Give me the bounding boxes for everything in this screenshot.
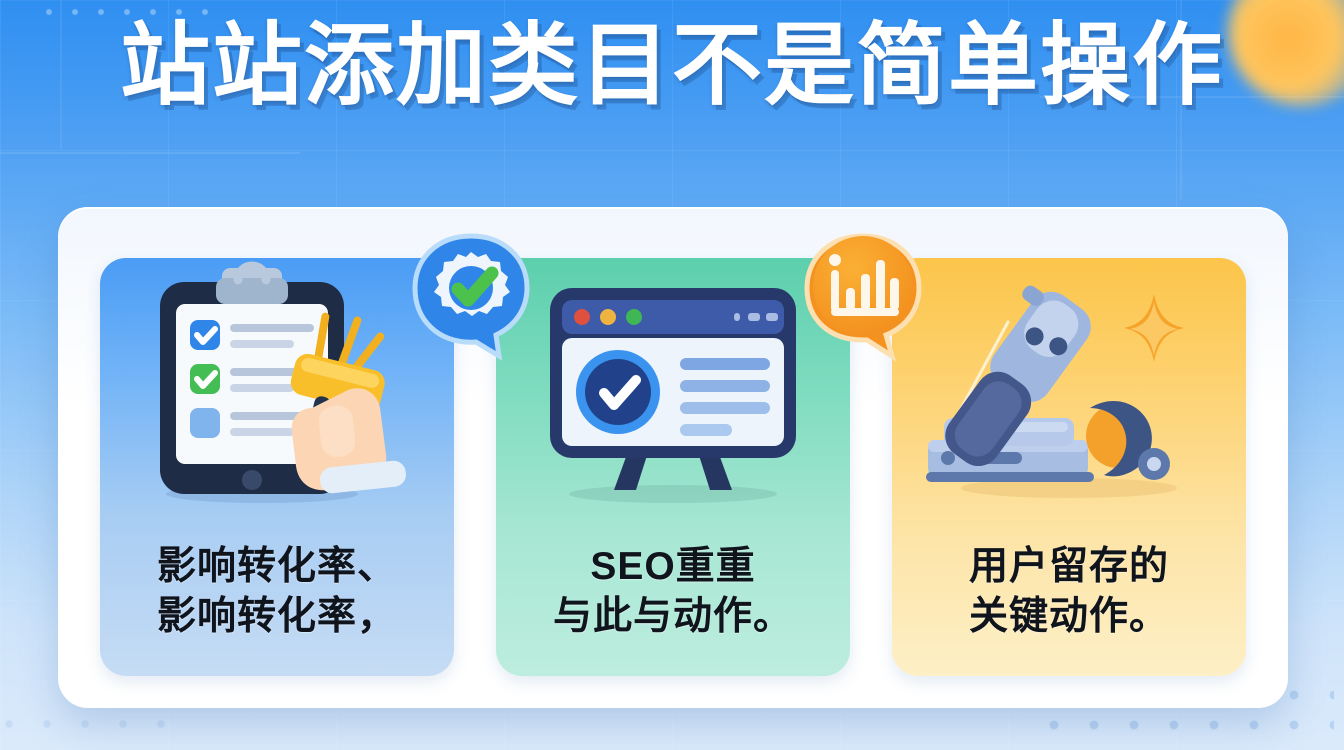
badge-bar-chart <box>800 232 930 362</box>
clipboard-checklist-hand-icon <box>100 258 454 508</box>
caption-line: 用户留存的 <box>892 542 1246 592</box>
caption-line: 影响转化率、 <box>100 542 454 592</box>
infographic-canvas: 站站添加类目不是简单操作 <box>0 0 1344 750</box>
page-title: 站站添加类目不是简单操作 <box>0 18 1344 114</box>
dot-grid-bottom-left <box>0 710 180 740</box>
card-caption: SEO重重 与此与动作。 <box>496 542 850 642</box>
caption-line: SEO重重 <box>496 542 850 592</box>
caption-line: 影响转化率， <box>100 592 454 642</box>
bar-chart-bubble-icon <box>800 232 930 362</box>
card-retention[interactable]: 用户留存的 关键动作。 <box>892 258 1246 676</box>
card-conversion[interactable]: 影响转化率、 影响转化率， <box>100 258 454 676</box>
caption-line: 关键动作。 <box>892 592 1246 642</box>
badge-gear-check <box>406 232 536 362</box>
card-caption: 用户留存的 关键动作。 <box>892 542 1246 642</box>
card-row: 影响转化率、 影响转化率， <box>100 258 1246 676</box>
card-caption: 影响转化率、 影响转化率， <box>100 542 454 642</box>
machine-tool-sparkle-icon <box>892 258 1246 508</box>
light-streak <box>0 152 300 154</box>
card-seo[interactable]: SEO重重 与此与动作。 <box>496 258 850 676</box>
gear-check-bubble-icon <box>406 232 536 362</box>
browser-window-check-icon <box>496 258 850 508</box>
caption-line: 与此与动作。 <box>496 592 850 642</box>
